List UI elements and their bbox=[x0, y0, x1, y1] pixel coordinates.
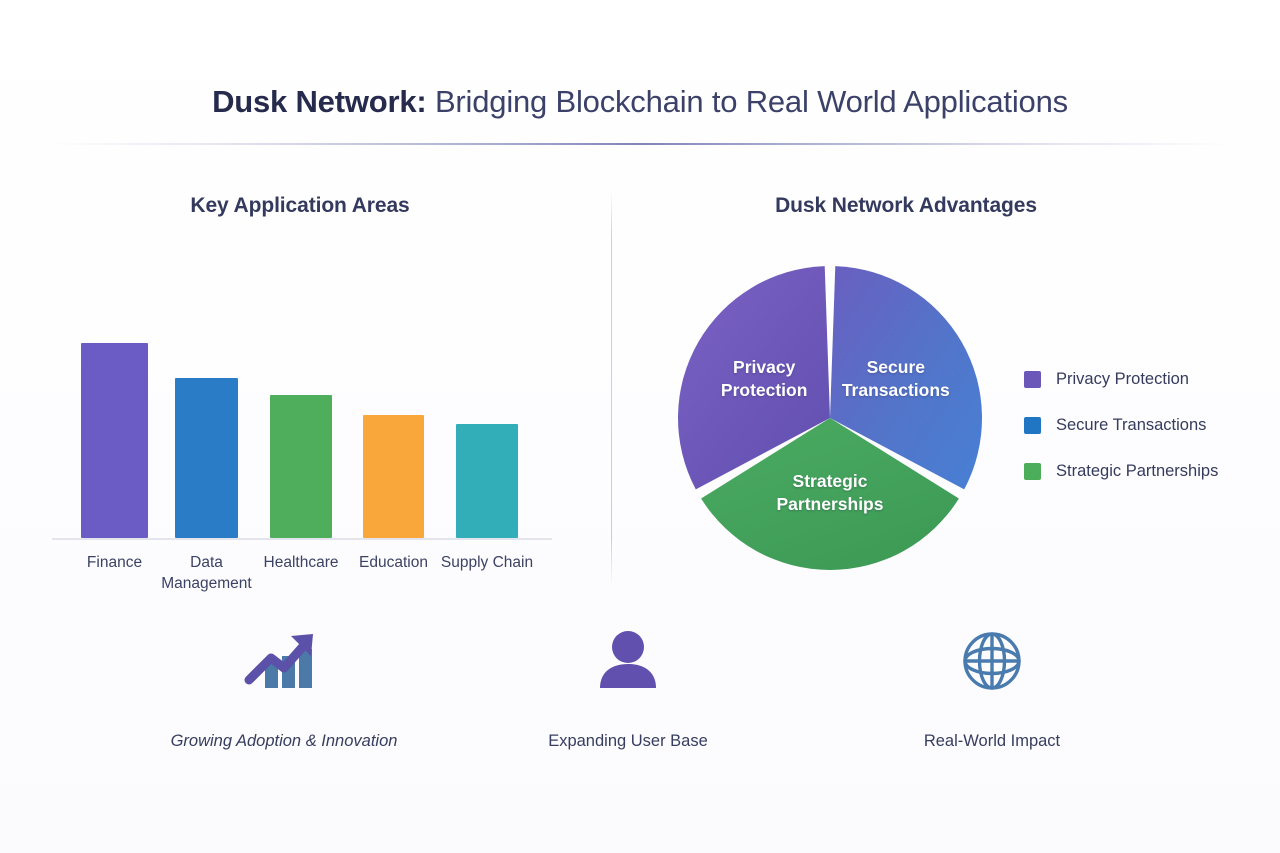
bar-label-5: Supply Chain bbox=[427, 552, 547, 573]
bar-1 bbox=[81, 343, 148, 538]
bar-3 bbox=[270, 395, 332, 538]
legend-label: Strategic Partnerships bbox=[1056, 462, 1218, 481]
legend-item-1[interactable]: Privacy Protection bbox=[1024, 356, 1264, 402]
page-title-strong: Dusk Network: bbox=[212, 84, 426, 119]
feature-caption: Growing Adoption & Innovation bbox=[134, 732, 434, 751]
feature-caption: Expanding User Base bbox=[478, 732, 778, 751]
legend-label: Secure Transactions bbox=[1056, 416, 1206, 435]
infographic-canvas: Dusk Network: Bridging Blockchain to Rea… bbox=[0, 0, 1280, 853]
growth-chart-icon bbox=[134, 628, 434, 694]
header-divider bbox=[48, 143, 1232, 145]
left-panel-heading: Key Application Areas bbox=[0, 194, 600, 218]
bar-chart-axis bbox=[52, 538, 552, 540]
right-panel-heading: Dusk Network Advantages bbox=[620, 194, 1192, 218]
page-title-light: Bridging Blockchain to Real World Applic… bbox=[435, 84, 1068, 119]
page-title: Dusk Network: Bridging Blockchain to Rea… bbox=[0, 82, 1280, 122]
legend-swatch-icon bbox=[1024, 371, 1041, 388]
bar-5 bbox=[456, 424, 518, 538]
globe-icon bbox=[842, 628, 1142, 694]
feature-growing-adoption: Growing Adoption & Innovation bbox=[134, 628, 434, 751]
pie-legend: Privacy ProtectionSecure TransactionsStr… bbox=[1024, 356, 1264, 494]
pie-chart: Privacy ProtectionSecure TransactionsStr… bbox=[676, 264, 984, 572]
feature-real-world-impact: Real-World Impact bbox=[842, 628, 1142, 751]
legend-label: Privacy Protection bbox=[1056, 370, 1189, 389]
panel-divider bbox=[611, 190, 612, 586]
feature-expanding-user-base: Expanding User Base bbox=[478, 628, 778, 751]
pie-chart-svg bbox=[676, 264, 984, 572]
user-person-icon bbox=[478, 628, 778, 694]
bar-chart: FinanceData ManagementHealthcareEducatio… bbox=[52, 330, 560, 600]
legend-swatch-icon bbox=[1024, 417, 1041, 434]
feature-caption: Real-World Impact bbox=[842, 732, 1142, 751]
legend-item-2[interactable]: Secure Transactions bbox=[1024, 402, 1264, 448]
legend-swatch-icon bbox=[1024, 463, 1041, 480]
legend-item-3[interactable]: Strategic Partnerships bbox=[1024, 448, 1264, 494]
bar-4 bbox=[363, 415, 424, 538]
bar-2 bbox=[175, 378, 238, 538]
